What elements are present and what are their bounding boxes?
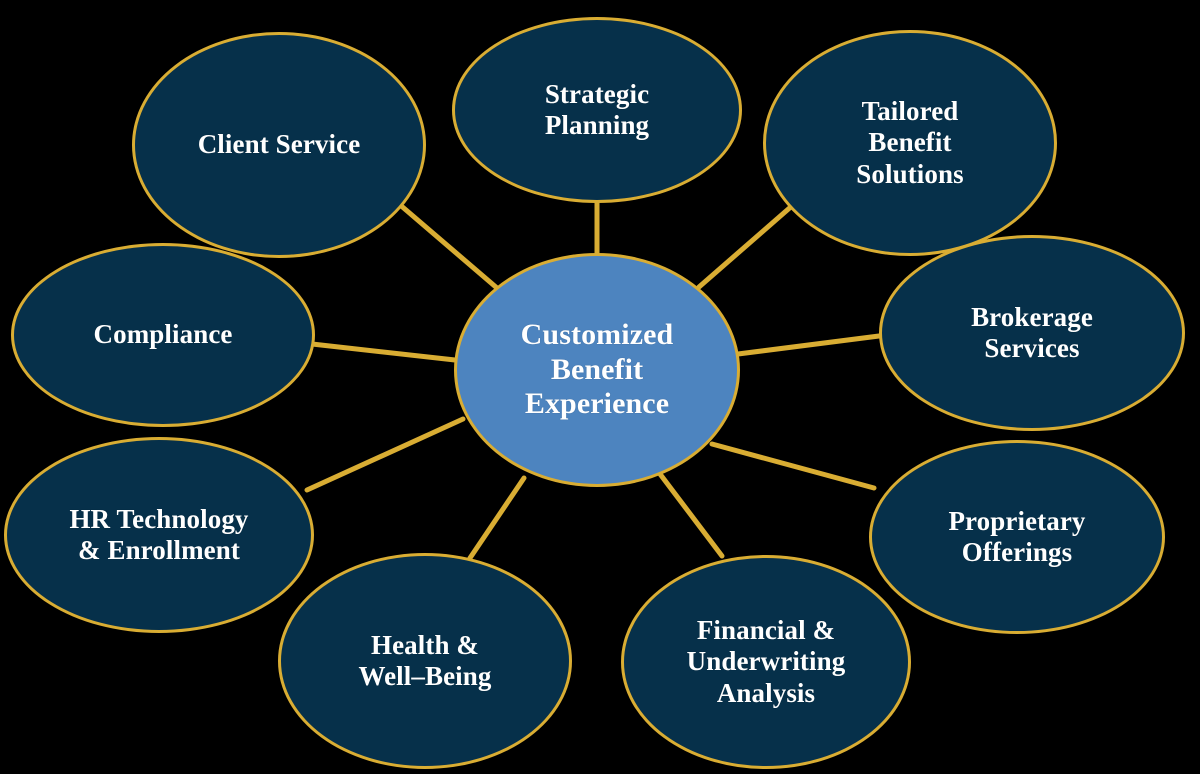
diagram-canvas: Client ServiceStrategic PlanningTailored…: [0, 0, 1200, 774]
spoke-node-label-proprietary-offerings: Proprietary Offerings: [938, 506, 1095, 569]
spoke-node-client-service[interactable]: Client Service: [132, 32, 426, 258]
connector-client-service: [399, 204, 497, 288]
connector-compliance: [312, 344, 455, 360]
spoke-node-brokerage-services[interactable]: Brokerage Services: [879, 235, 1185, 431]
spoke-node-compliance[interactable]: Compliance: [11, 243, 315, 427]
connector-tailored-benefit-solutions: [699, 205, 793, 287]
hub-node[interactable]: Customized Benefit Experience: [454, 253, 740, 487]
spoke-node-hr-technology-enrollment[interactable]: HR Technology & Enrollment: [4, 437, 314, 633]
spoke-node-label-client-service: Client Service: [188, 129, 371, 160]
connector-financial-underwriting-analysis: [657, 470, 722, 556]
spoke-node-label-brokerage-services: Brokerage Services: [961, 302, 1103, 365]
spoke-node-tailored-benefit-solutions[interactable]: Tailored Benefit Solutions: [763, 30, 1057, 256]
spoke-node-label-strategic-planning: Strategic Planning: [535, 79, 659, 142]
spoke-node-health-well-being[interactable]: Health & Well–Being: [278, 553, 572, 769]
spoke-node-strategic-planning[interactable]: Strategic Planning: [452, 17, 742, 203]
connector-health-well-being: [470, 478, 524, 558]
spoke-node-label-financial-underwriting-analysis: Financial & Underwriting Analysis: [677, 615, 856, 709]
spoke-node-label-tailored-benefit-solutions: Tailored Benefit Solutions: [846, 96, 973, 190]
hub-node-label: Customized Benefit Experience: [511, 318, 684, 422]
spoke-node-label-health-well-being: Health & Well–Being: [348, 630, 501, 693]
spoke-node-label-compliance: Compliance: [84, 319, 243, 350]
spoke-node-proprietary-offerings[interactable]: Proprietary Offerings: [869, 440, 1165, 634]
connector-proprietary-offerings: [712, 444, 874, 488]
connector-hr-technology-enrollment: [307, 419, 463, 490]
spoke-node-label-hr-technology-enrollment: HR Technology & Enrollment: [59, 504, 258, 567]
connector-brokerage-services: [738, 336, 879, 354]
spoke-node-financial-underwriting-analysis[interactable]: Financial & Underwriting Analysis: [621, 555, 911, 769]
